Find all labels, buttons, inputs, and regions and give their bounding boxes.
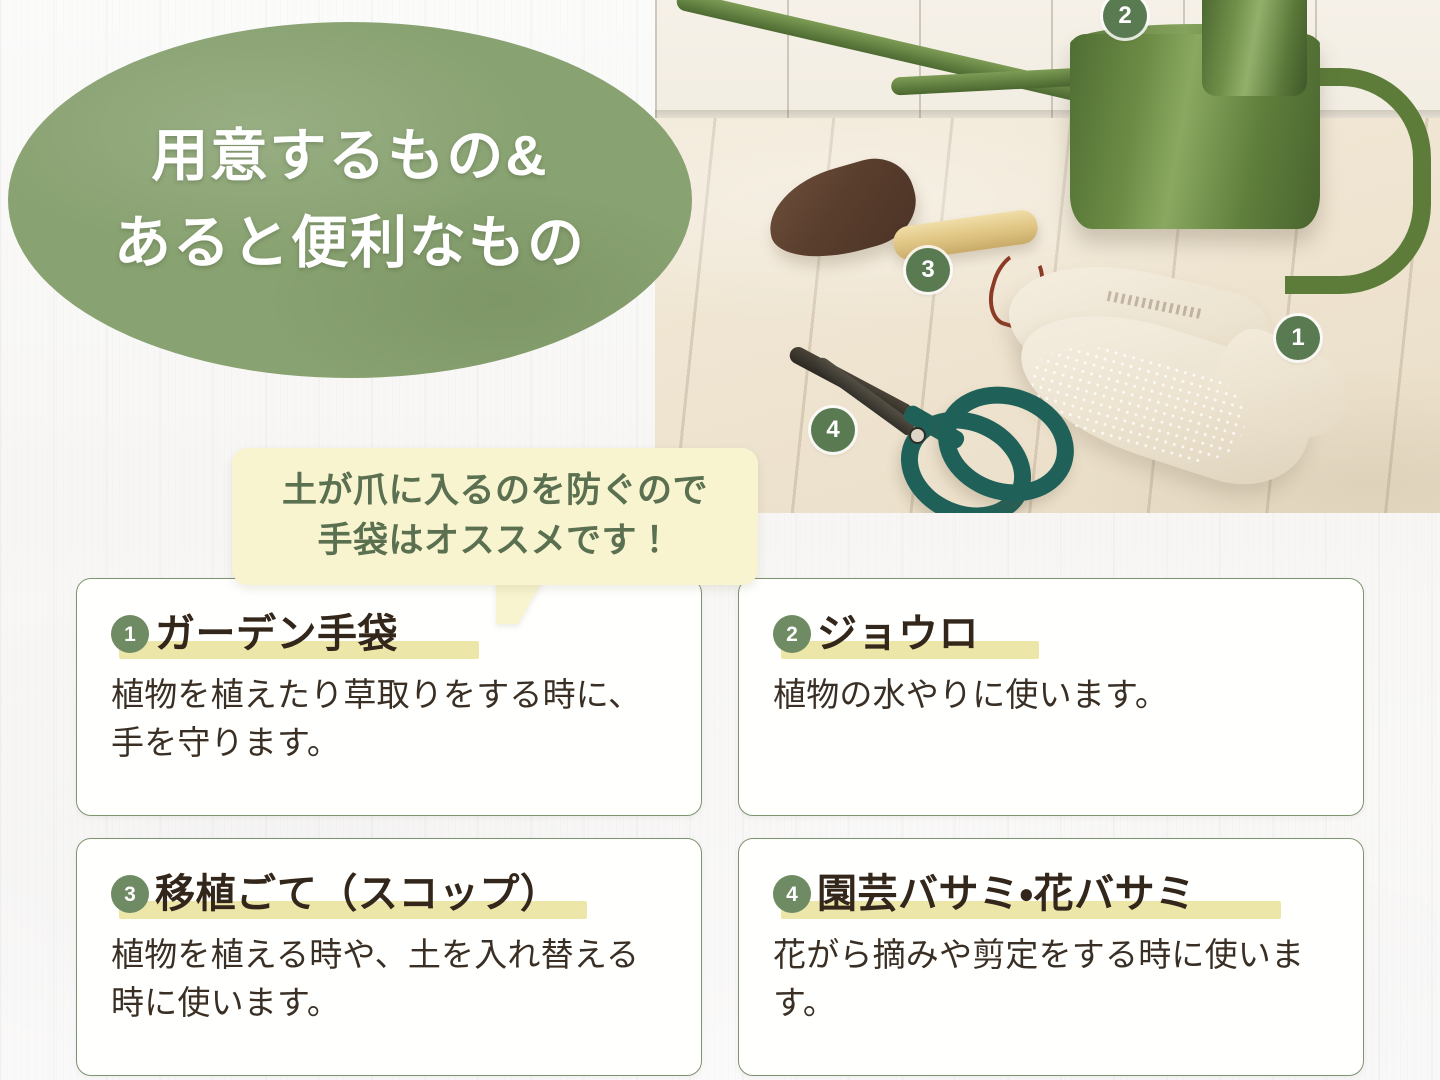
info-card-watering-can: 2 ジョウロ 植物の水やりに使います。 <box>738 578 1364 816</box>
title-ellipse: 用意するもの& あると便利なもの <box>8 22 692 378</box>
gardening-tools-photo: Bonheur le jardin醸 <box>655 0 1440 513</box>
title-line-2: あると便利なもの <box>114 200 586 287</box>
callout-line-1: 土が爪に入るのを防ぐので <box>252 466 738 516</box>
watering-can-neck <box>1202 0 1307 96</box>
infographic-page: Bonheur le jardin醸 <box>0 0 1440 1080</box>
callout-line-2: 手袋はオススメです！ <box>252 516 738 566</box>
card-2-badge: 2 <box>773 615 811 653</box>
card-4-header: 4 園芸バサミ・花バサミ <box>773 869 1333 919</box>
card-2-title: ジョウロ <box>817 614 979 654</box>
card-3-header: 3 移植ごて（スコップ） <box>111 869 671 919</box>
photo-badge-1: 1 <box>1276 316 1320 360</box>
card-3-body: 植物を植える時や、土を入れ替える時に使います。 <box>111 931 671 1027</box>
info-card-garden-gloves: 1 ガーデン手袋 植物を植えたり草取りをする時に、手を守ります。 <box>76 578 702 816</box>
card-1-badge: 1 <box>111 615 149 653</box>
card-2-header: 2 ジョウロ <box>773 609 1333 659</box>
card-2-body: 植物の水やりに使います。 <box>773 671 1333 719</box>
card-1-body: 植物を植えたり草取りをする時に、手を守ります。 <box>111 671 671 767</box>
card-1-header: 1 ガーデン手袋 <box>111 609 671 659</box>
title-line-1: 用意するもの& <box>151 113 548 200</box>
card-1-title: ガーデン手袋 <box>155 614 398 654</box>
photo-badge-3: 3 <box>906 248 950 292</box>
card-4-badge: 4 <box>773 875 811 913</box>
card-3-badge: 3 <box>111 875 149 913</box>
photo-badge-4: 4 <box>811 408 855 452</box>
card-4-title: 園芸バサミ・花バサミ <box>817 874 1196 914</box>
info-card-trowel: 3 移植ごて（スコップ） 植物を植える時や、土を入れ替える時に使います。 <box>76 838 702 1076</box>
info-card-garden-scissors: 4 園芸バサミ・花バサミ 花がら摘みや剪定をする時に使います。 <box>738 838 1364 1076</box>
card-3-title: 移植ごて（スコップ） <box>155 874 560 914</box>
callout-bubble: 土が爪に入るのを防ぐので 手袋はオススメです！ <box>232 448 758 585</box>
card-4-body: 花がら摘みや剪定をする時に使います。 <box>773 931 1333 1027</box>
scissors-pivot-screw <box>909 427 926 444</box>
